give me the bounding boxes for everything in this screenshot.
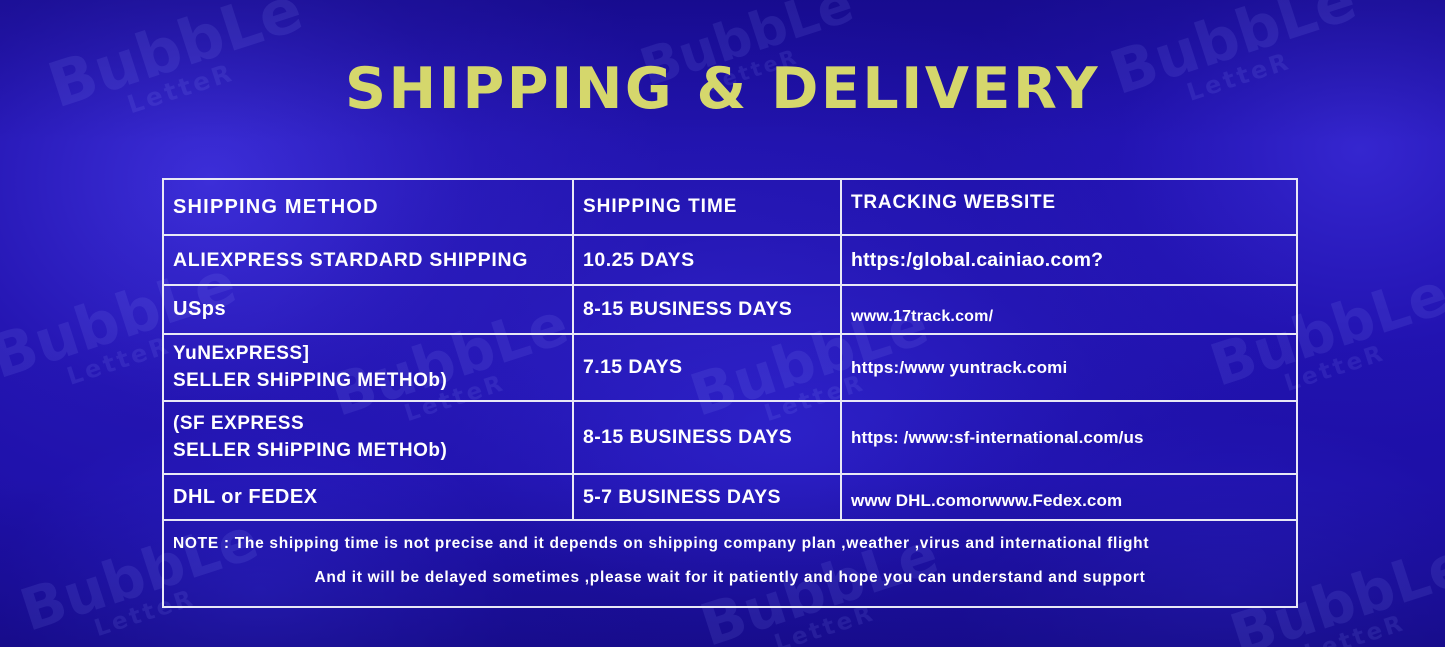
cell-tracking-website[interactable]: www.17track.com/	[842, 286, 1296, 333]
shipping-note-line-2: And it will be delayed sometimes ,please…	[164, 569, 1296, 587]
cell-shipping-method: (SF EXPRESS SELLER SHiPPING METHOb)	[164, 402, 574, 473]
page-title: SHIPPING & DELIVERY	[0, 56, 1445, 122]
cell-shipping-method: USps	[164, 286, 574, 333]
cell-shipping-time: 8-15 BUSINESS DAYS	[574, 286, 842, 333]
table-row: (SF EXPRESS SELLER SHiPPING METHOb) 8-15…	[164, 402, 1296, 475]
table-row: ALIEXPRESS STARDARD SHIPPING 10.25 DAYS …	[164, 236, 1296, 286]
cell-tracking-website[interactable]: www DHL.comorwww.Fedex.com	[842, 475, 1296, 519]
table-row: DHL or FEDEX 5-7 BUSINESS DAYS www DHL.c…	[164, 475, 1296, 521]
column-header-shipping-method: SHIPPING METHOD	[164, 180, 574, 234]
shipping-note-line-1: NOTE : The shipping time is not precise …	[173, 535, 1149, 553]
cell-shipping-time: 10.25 DAYS	[574, 236, 842, 284]
table-row: YuNExPRESS] SELLER SHiPPING METHOb) 7.15…	[164, 335, 1296, 402]
cell-shipping-time: 5-7 BUSINESS DAYS	[574, 475, 842, 519]
shipping-table: SHIPPING METHOD SHIPPING TIME TRACKING W…	[162, 178, 1298, 608]
cell-shipping-method: YuNExPRESS] SELLER SHiPPING METHOb)	[164, 335, 574, 400]
table-row: USps 8-15 BUSINESS DAYS www.17track.com/	[164, 286, 1296, 335]
cell-tracking-website[interactable]: https:/global.cainiao.com?	[842, 236, 1296, 284]
column-header-shipping-time: SHIPPING TIME	[574, 180, 842, 234]
cell-shipping-method-line2: SELLER SHiPPING METHOb)	[173, 438, 574, 465]
cell-tracking-website[interactable]: https: /www:sf-international.com/us	[842, 402, 1296, 473]
shipping-delivery-banner: BubbLe LetteR BubbLe LetteR BubbLe Lette…	[0, 0, 1445, 647]
cell-shipping-time: 7.15 DAYS	[574, 335, 842, 400]
watermark-sub: LetteR	[1282, 317, 1445, 395]
column-header-tracking-website: TRACKING WEBSITE	[842, 180, 1296, 234]
shipping-note: NOTE : The shipping time is not precise …	[164, 521, 1296, 606]
cell-shipping-method-line1: (SF EXPRESS	[173, 411, 574, 438]
table-header-row: SHIPPING METHOD SHIPPING TIME TRACKING W…	[164, 180, 1296, 236]
cell-shipping-method: ALIEXPRESS STARDARD SHIPPING	[164, 236, 574, 284]
cell-shipping-method-line2: SELLER SHiPPING METHOb)	[173, 368, 574, 394]
cell-shipping-method: DHL or FEDEX	[164, 475, 574, 519]
cell-tracking-website[interactable]: https:/www yuntrack.comi	[842, 335, 1296, 400]
watermark-sub: LetteR	[1302, 587, 1445, 647]
cell-shipping-method-line1: YuNExPRESS]	[173, 341, 574, 367]
cell-shipping-time: 8-15 BUSINESS DAYS	[574, 402, 842, 473]
